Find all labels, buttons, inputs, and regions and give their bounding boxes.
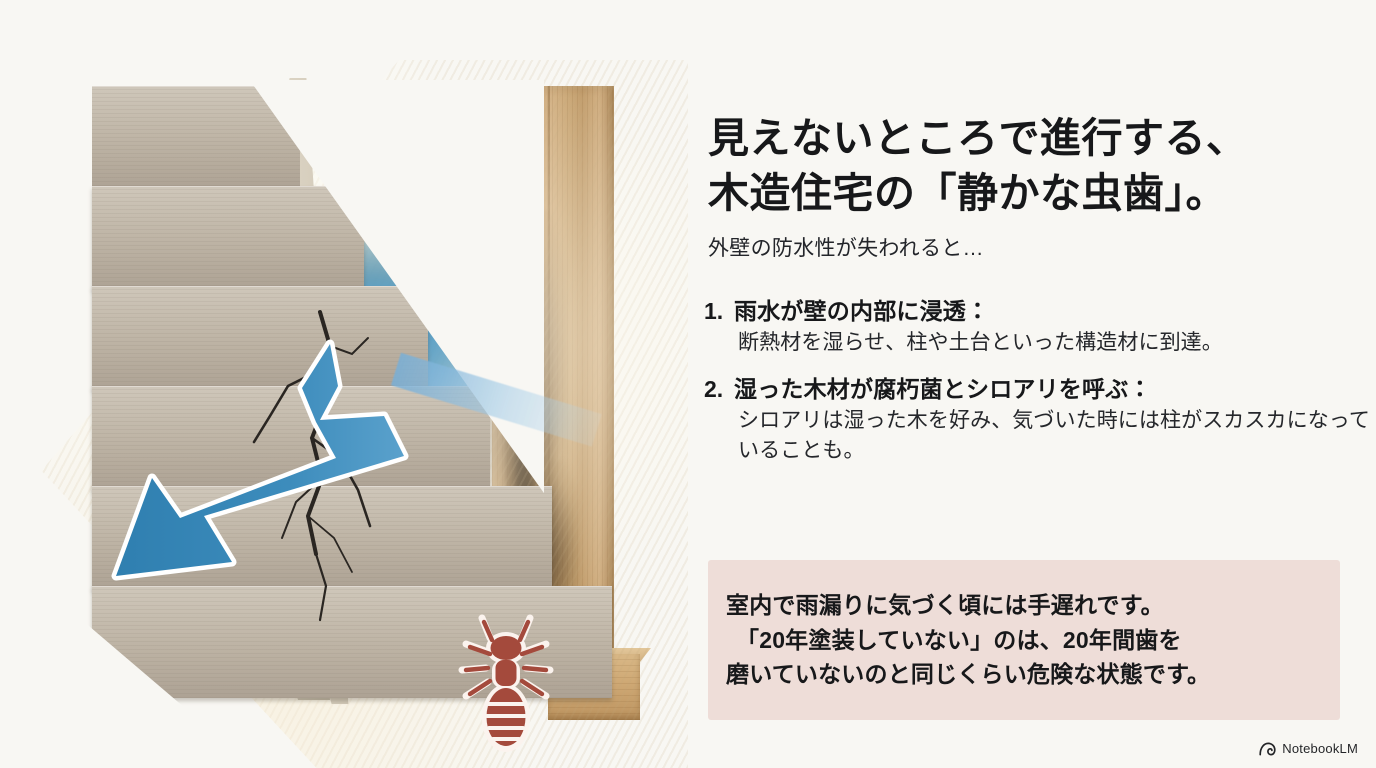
slide-root: 見えないところで進行する、 木造住宅の「静かな虫歯」。 外壁の防水性が失われると… xyxy=(0,0,1376,768)
headline-line-2: 木造住宅の「静かな虫歯」。 xyxy=(708,166,1368,221)
watermark-label: NotebookLM xyxy=(1282,741,1358,756)
callout-line-2: 「20年塗装していない」のは、20年間歯を xyxy=(726,623,1210,658)
cross-section-illustration xyxy=(0,60,688,768)
headline-line-1: 見えないところで進行する、 xyxy=(708,115,1248,161)
callout-text: 室内で雨漏りに気づく頃には手遅れです。 「20年塗装していない」のは、20年間歯… xyxy=(708,588,1228,693)
step-description: シロアリは湿った木を好み、気づいた時には柱がスカスカになっていることも。 xyxy=(734,406,1372,466)
callout-line-3: 磨いていないのと同じくらい危険な状態です。 xyxy=(726,657,1210,692)
notebooklm-watermark: NotebookLM xyxy=(1259,741,1358,756)
lead-text: 外壁の防水性が失われると… xyxy=(708,232,984,262)
step-description: 断熱材を湿らせ、柱や土台といった構造材に到達。 xyxy=(734,328,1372,358)
step-title: 湿った木材が腐朽菌とシロアリを呼ぶ： xyxy=(734,374,1372,406)
callout-line-1: 室内で雨漏りに気づく頃には手遅れです。 xyxy=(726,588,1210,623)
step-number: 1. xyxy=(704,296,734,358)
text-panel: 見えないところで進行する、 木造住宅の「静かな虫歯」。 外壁の防水性が失われると… xyxy=(704,0,1376,768)
list-item: 2. 湿った木材が腐朽菌とシロアリを呼ぶ： シロアリは湿った木を好み、気づいた時… xyxy=(704,374,1372,466)
siding-board xyxy=(92,186,364,290)
steps-list: 1. 雨水が壁の内部に浸透： 断熱材を湿らせ、柱や土台といった構造材に到達。 2… xyxy=(704,296,1372,482)
termite-icon xyxy=(452,608,560,758)
siding-board xyxy=(92,486,552,590)
siding-board xyxy=(92,286,428,390)
page-title: 見えないところで進行する、 木造住宅の「静かな虫歯」。 xyxy=(708,111,1368,221)
siding-board xyxy=(92,386,490,490)
warning-callout: 室内で雨漏りに気づく頃には手遅れです。 「20年塗装していない」のは、20年間歯… xyxy=(708,560,1340,720)
step-number: 2. xyxy=(704,374,734,466)
list-item: 1. 雨水が壁の内部に浸透： 断熱材を湿らせ、柱や土台といった構造材に到達。 xyxy=(704,296,1372,358)
notebooklm-icon xyxy=(1259,742,1276,756)
siding-board xyxy=(92,86,300,190)
step-title: 雨水が壁の内部に浸透： xyxy=(734,296,1372,328)
